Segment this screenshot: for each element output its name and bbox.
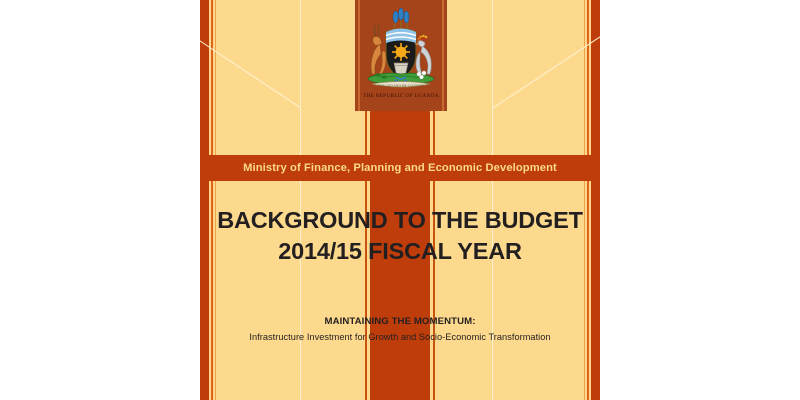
subtitle: MAINTAINING THE MOMENTUM: Infrastructure… [200, 316, 600, 342]
uganda-coat-of-arms-icon: FOR GOD AND MY COUNTRY [358, 8, 444, 93]
svg-text:FOR GOD AND MY COUNTRY: FOR GOD AND MY COUNTRY [378, 83, 425, 87]
ministry-banner: Ministry of Finance, Planning and Econom… [200, 155, 600, 181]
page-title: BACKGROUND TO THE BUDGET 2014/15 FISCAL … [200, 205, 600, 267]
subtitle-theme: MAINTAINING THE MOMENTUM: [200, 316, 600, 327]
subtitle-tagline: Infrastructure Investment for Growth and… [200, 332, 600, 342]
title-line-2: 2014/15 FISCAL YEAR [200, 236, 600, 267]
republic-caption: THE REPUBLIC OF UGANDA [355, 93, 447, 99]
title-line-1: BACKGROUND TO THE BUDGET [200, 205, 600, 236]
document-cover: FOR GOD AND MY COUNTRY THE REPUBLIC OF U… [200, 0, 600, 400]
ministry-banner-label: Ministry of Finance, Planning and Econom… [243, 162, 557, 174]
